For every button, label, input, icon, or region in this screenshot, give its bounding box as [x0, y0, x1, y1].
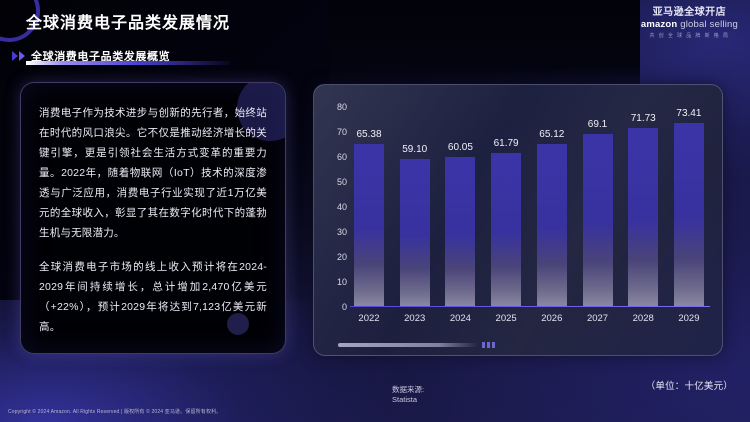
bar-slot[interactable]: 60.05 [445, 107, 475, 307]
x-axis-tick-label: 2029 [674, 313, 704, 324]
bar[interactable] [400, 159, 430, 307]
y-axis-tick-label: 20 [337, 252, 347, 262]
copyright-notice: Copyright © 2024 Amazon. All Rights Rese… [8, 408, 221, 415]
bar[interactable] [354, 144, 384, 307]
x-axis-tick-label: 2023 [400, 313, 430, 324]
bar-value-label: 73.41 [676, 108, 701, 119]
data-source-label: 数据来源: [392, 385, 424, 395]
y-axis-tick-label: 70 [337, 127, 347, 137]
bar-value-label: 65.38 [356, 129, 381, 140]
bar-value-label: 71.73 [631, 113, 656, 124]
bar-slot[interactable]: 65.12 [537, 107, 567, 307]
bar-value-label: 69.1 [588, 119, 607, 130]
y-axis-tick-label: 40 [337, 202, 347, 212]
y-axis-tick-label: 80 [337, 102, 347, 112]
title-underline [26, 61, 230, 65]
x-axis-tick-label: 2027 [583, 313, 613, 324]
page-title: 全球消费电子品类发展情况 [26, 14, 230, 38]
bar-slot[interactable]: 73.41 [674, 107, 704, 307]
decorative-progress-bar [338, 343, 478, 347]
bar-chart-plot-area: 65.3859.1060.0561.7965.1269.171.7373.41 … [354, 107, 704, 307]
y-axis-tick-label: 30 [337, 227, 347, 237]
bar-value-label: 59.10 [402, 144, 427, 155]
bar[interactable] [628, 128, 658, 307]
bar[interactable] [445, 157, 475, 307]
y-axis-tick-label: 10 [337, 277, 347, 287]
bar[interactable] [674, 123, 704, 307]
x-axis-baseline [350, 306, 710, 308]
logo-english-name: amazon global selling [641, 19, 738, 30]
bar-slot[interactable]: 65.38 [354, 107, 384, 307]
chart-panel: 65.3859.1060.0561.7965.1269.171.7373.41 … [313, 84, 723, 356]
x-axis-tick-label: 2028 [628, 313, 658, 324]
logo-chinese-name: 亚马逊全球开店 [641, 7, 738, 18]
bar[interactable] [491, 153, 521, 307]
y-axis-tick-label: 0 [342, 302, 347, 312]
slide-root: 全球消费电子品类发展情况 全球消费电子品类发展概览 亚马逊全球开店 amazon… [0, 0, 750, 422]
data-source-name: Statista [392, 395, 424, 405]
bar-slot[interactable]: 71.73 [628, 107, 658, 307]
logo-tagline: 共 创 全 球 品 牌 新 格 局 [641, 33, 738, 40]
bar[interactable] [537, 144, 567, 307]
bar-value-label: 61.79 [494, 138, 519, 149]
description-paragraph-2: 全球消费电子市场的线上收入预计将在2024-2029年间持续增长，总计增加2,4… [39, 257, 267, 337]
bar-slot[interactable]: 59.10 [400, 107, 430, 307]
bar[interactable] [583, 134, 613, 307]
unit-note: （单位：十亿美元） [646, 378, 733, 392]
header: 全球消费电子品类发展情况 全球消费电子品类发展概览 [26, 14, 230, 64]
y-axis-tick-label: 60 [337, 152, 347, 162]
decorative-dots-icon [482, 342, 495, 348]
bar-series: 65.3859.1060.0561.7965.1269.171.7373.41 [354, 107, 704, 307]
bar-value-label: 65.12 [539, 129, 564, 140]
y-axis-tick-label: 50 [337, 177, 347, 187]
bar-value-label: 60.05 [448, 142, 473, 153]
bar-slot[interactable]: 61.79 [491, 107, 521, 307]
x-axis-tick-label: 2022 [354, 313, 384, 324]
amazon-global-selling-logo: 亚马逊全球开店 amazon global selling 共 创 全 球 品 … [641, 7, 738, 40]
logo-sub-text: global selling [680, 19, 738, 30]
x-axis-tick-label: 2025 [491, 313, 521, 324]
description-panel: 消费电子作为技术进步与创新的先行者，始终站在时代的风口浪尖。它不仅是推动经济增长… [20, 82, 286, 354]
double-chevron-right-icon [12, 51, 25, 61]
bar-slot[interactable]: 69.1 [583, 107, 613, 307]
description-paragraph-1: 消费电子作为技术进步与创新的先行者，始终站在时代的风口浪尖。它不仅是推动经济增长… [39, 103, 267, 243]
data-source: 数据来源: Statista [392, 385, 424, 405]
x-axis-tick-label: 2026 [537, 313, 567, 324]
logo-brand-text: amazon [641, 19, 678, 30]
x-axis-labels: 20222023202420252026202720282029 [354, 313, 704, 324]
x-axis-tick-label: 2024 [445, 313, 475, 324]
